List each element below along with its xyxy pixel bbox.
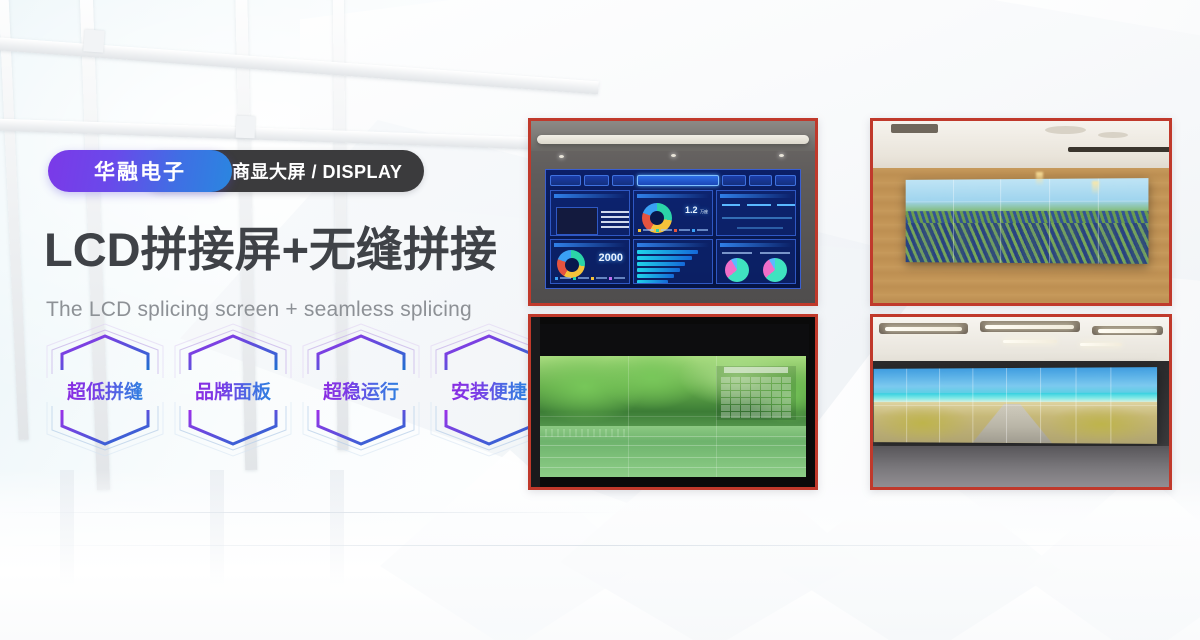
photo-dashboard-video-wall[interactable]: 1.2 万座 (528, 118, 818, 306)
feature-label: 超稳运行 (323, 377, 399, 404)
photo-willow-lake-video-wall[interactable] (528, 314, 818, 490)
banner-text-column: 商显大屏 / DISPLAY 华融电子 LCD拼接屏+无缝拼接 The LCD … (0, 0, 540, 640)
feature-label: 超低拼缝 (67, 377, 143, 404)
brand-badge: 华融电子 (48, 150, 232, 192)
page-title: LCD拼接屏+无缝拼接 (44, 226, 497, 273)
feature-list: 超低拼缝 品牌面板 (46, 336, 548, 444)
badge-row: 商显大屏 / DISPLAY 华融电子 (48, 150, 232, 192)
feature-label: 安装便捷 (451, 377, 527, 404)
photo-gallery: 1.2 万座 (528, 118, 1172, 490)
feature-badge-3: 超稳运行 (302, 336, 420, 444)
feature-badge-2: 品牌面板 (174, 336, 292, 444)
product-banner: 商显大屏 / DISPLAY 华融电子 LCD拼接屏+无缝拼接 The LCD … (0, 0, 1200, 640)
page-subtitle: The LCD splicing screen + seamless splic… (46, 298, 472, 322)
feature-badge-1: 超低拼缝 (46, 336, 164, 444)
feature-label: 品牌面板 (195, 377, 271, 404)
photo-solar-farm-video-wall[interactable] (870, 118, 1172, 306)
brand-badge-label: 华融电子 (94, 156, 186, 186)
category-badge-label: 商显大屏 / DISPLAY (232, 158, 402, 184)
photo-beach-boardwalk-video-wall[interactable] (870, 314, 1172, 490)
